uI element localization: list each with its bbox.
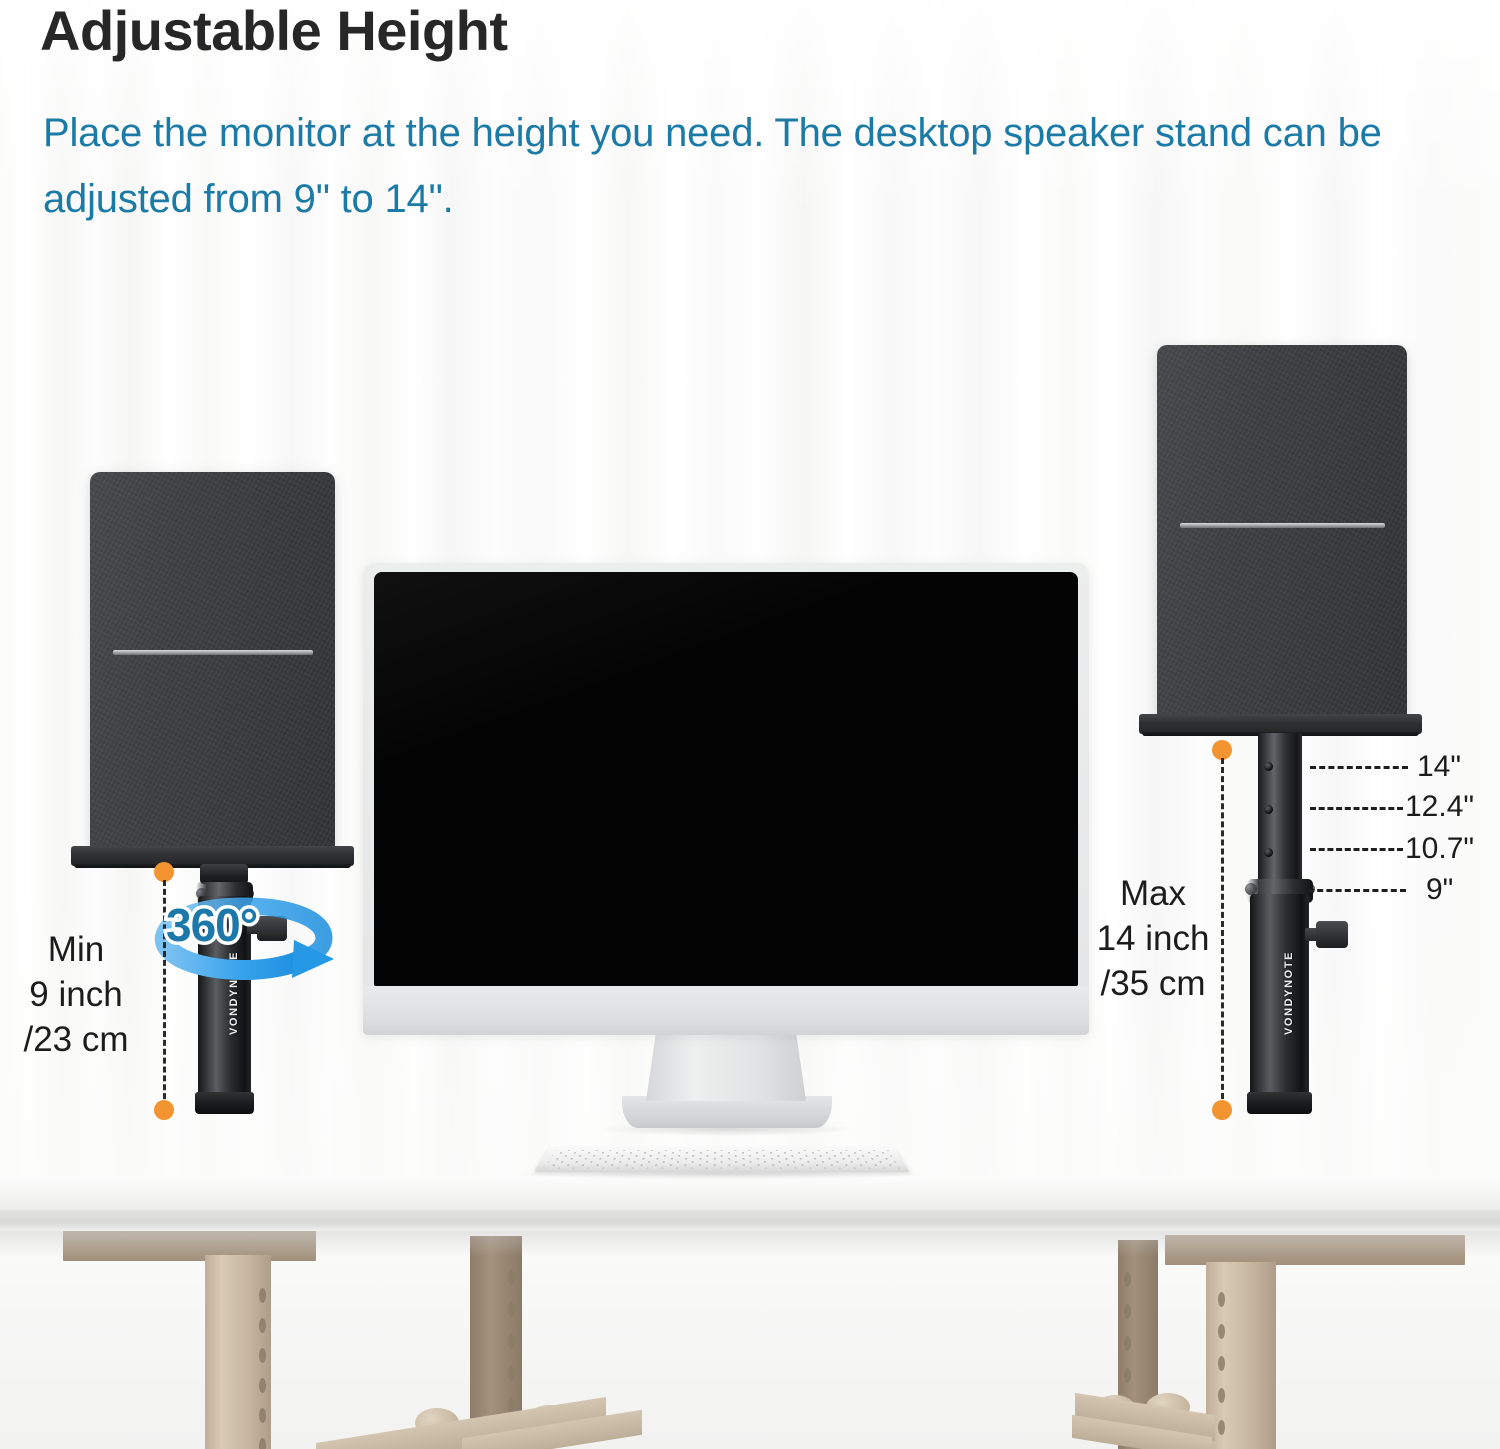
- speaker-panel-left: [90, 472, 335, 852]
- max-label-line2: 14 inch: [1089, 917, 1217, 962]
- height-hole-124: [1264, 805, 1273, 814]
- min-label-line3: /23 cm: [10, 1018, 142, 1063]
- height-hole-107: [1264, 848, 1273, 857]
- monitor-screen: [374, 572, 1078, 986]
- pole-foot-left: [195, 1092, 254, 1114]
- height-label-9: 9": [1426, 873, 1453, 907]
- speaker-panel-right: [1157, 345, 1407, 720]
- leader-line-9: [1308, 889, 1406, 892]
- min-label-line2: 9 inch: [10, 973, 142, 1018]
- min-label-line1: Min: [10, 928, 142, 973]
- max-height-label: Max 14 inch /35 cm: [1089, 872, 1217, 1006]
- lock-knob-right[interactable]: [1316, 921, 1348, 948]
- max-guide-line: [1221, 758, 1224, 1108]
- keyboard-keys: [544, 1150, 899, 1168]
- leader-line-14: [1310, 766, 1408, 769]
- speaker-slot-left: [113, 650, 313, 655]
- page-subtitle: Place the monitor at the height you need…: [43, 100, 1463, 232]
- max-marker-dot-top: [1212, 740, 1232, 760]
- rotation-360-badge: 360°: [152, 886, 342, 1006]
- keyboard: [534, 1148, 910, 1172]
- rotation-360-label: 360°: [166, 898, 257, 952]
- leader-line-107: [1310, 848, 1403, 851]
- speaker-platform-right: [1139, 714, 1422, 734]
- min-marker-dot-bottom: [154, 1100, 174, 1120]
- pole-tube-right: [1250, 894, 1309, 1102]
- pole-cap-left: [200, 864, 248, 884]
- height-hole-14: [1264, 762, 1273, 771]
- max-label-line3: /35 cm: [1089, 962, 1217, 1007]
- infographic-canvas: Adjustable Height Place the monitor at t…: [0, 0, 1500, 1449]
- page-title: Adjustable Height: [40, 2, 508, 61]
- desk-shadow: [0, 1231, 1500, 1257]
- max-marker-dot-bottom: [1212, 1100, 1232, 1120]
- desk-surface: [0, 1176, 1500, 1210]
- leader-line-124: [1310, 807, 1403, 810]
- max-label-line1: Max: [1089, 872, 1217, 917]
- pole-foot-right: [1247, 1092, 1312, 1114]
- min-marker-dot-top: [154, 862, 174, 882]
- speaker-slot-right: [1180, 523, 1385, 528]
- speaker-platform-left: [71, 846, 354, 866]
- height-label-14: 14": [1417, 750, 1461, 784]
- monitor-neck: [646, 1035, 806, 1101]
- min-height-label: Min 9 inch /23 cm: [10, 928, 142, 1062]
- monitor-bezel-chin: [363, 986, 1089, 1035]
- brand-logo-right: VONDYNOTE: [1283, 951, 1295, 1035]
- desk-front-edge: [0, 1210, 1500, 1231]
- height-label-124: 12.4": [1405, 790, 1474, 824]
- height-label-107: 10.7": [1405, 832, 1474, 866]
